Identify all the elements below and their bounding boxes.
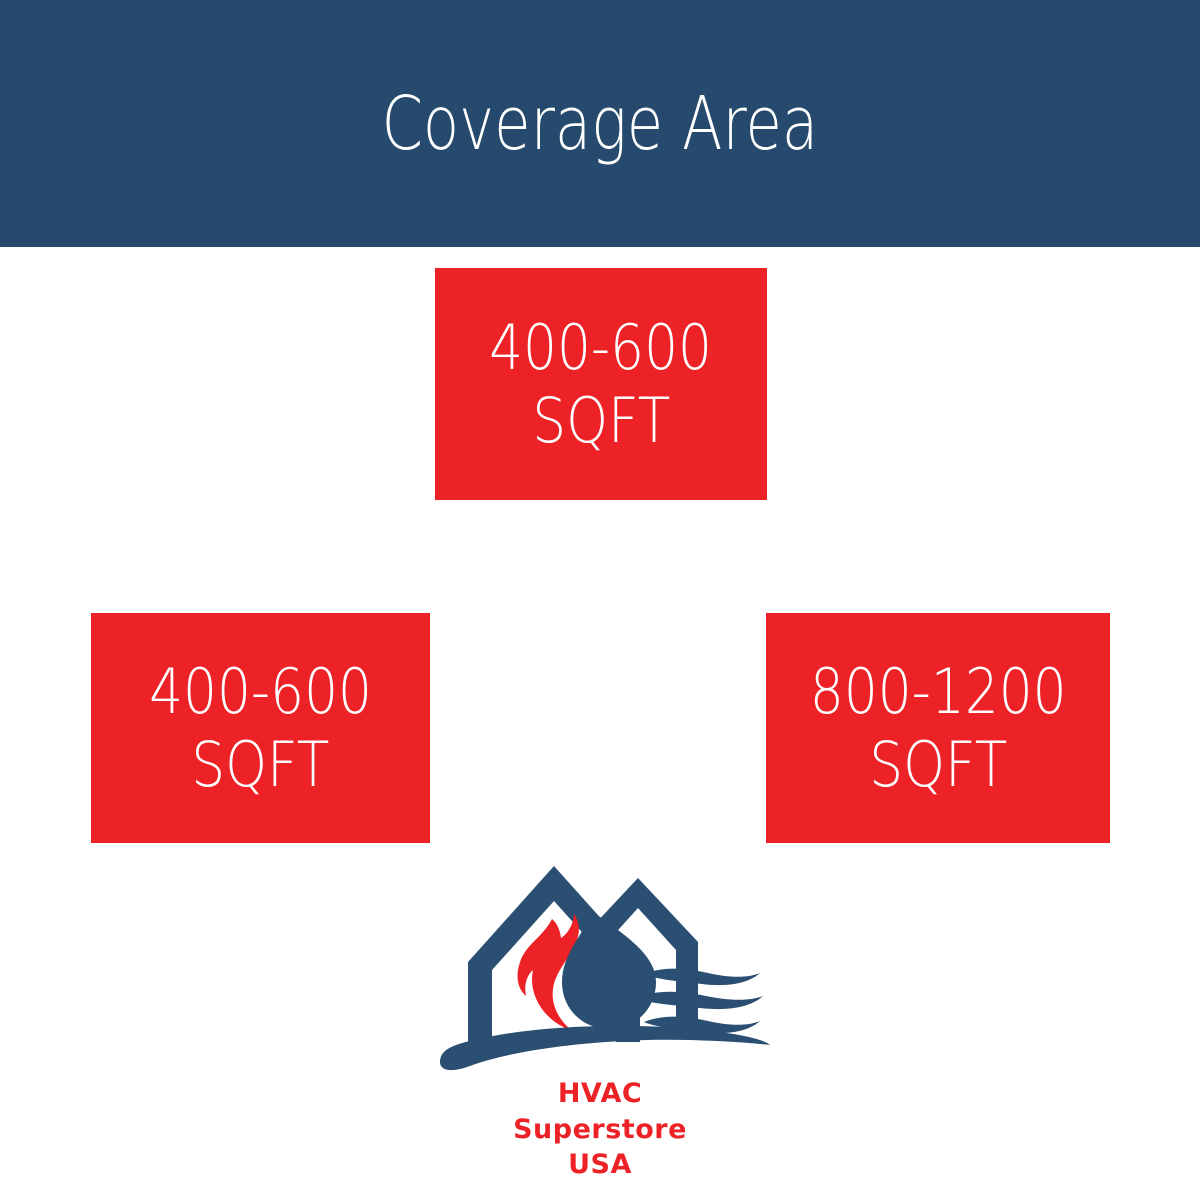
coverage-range-value: 400-600 [149, 655, 372, 728]
coverage-unit-label: SQFT [532, 384, 670, 457]
logo-line-1: HVAC [513, 1076, 687, 1112]
coverage-unit-label: SQFT [869, 728, 1007, 801]
coverage-box-top: 400-600 SQFT [435, 268, 767, 500]
coverage-box-right: 800-1200 SQFT [766, 613, 1110, 843]
coverage-box-left: 400-600 SQFT [91, 613, 430, 843]
logo-line-2: Superstore [513, 1112, 687, 1148]
logo-wordmark: HVAC Superstore USA [513, 1076, 687, 1183]
coverage-range-value: 800-1200 [810, 655, 1067, 728]
brand-logo: HVAC Superstore USA [400, 846, 800, 1186]
hvac-house-flame-droplet-airflow-icon [430, 846, 770, 1074]
coverage-range-value: 400-600 [490, 311, 713, 384]
coverage-area-infographic: Coverage Area 400-600 SQFT 400-600 SQFT … [0, 0, 1200, 1200]
coverage-unit-label: SQFT [191, 728, 329, 801]
airflow-wave-line-1 [644, 969, 760, 985]
page-title: Coverage Area [382, 87, 819, 161]
logo-line-3: USA [513, 1147, 687, 1183]
airflow-wave-line-2 [636, 992, 763, 1009]
header-banner: Coverage Area [0, 0, 1200, 247]
